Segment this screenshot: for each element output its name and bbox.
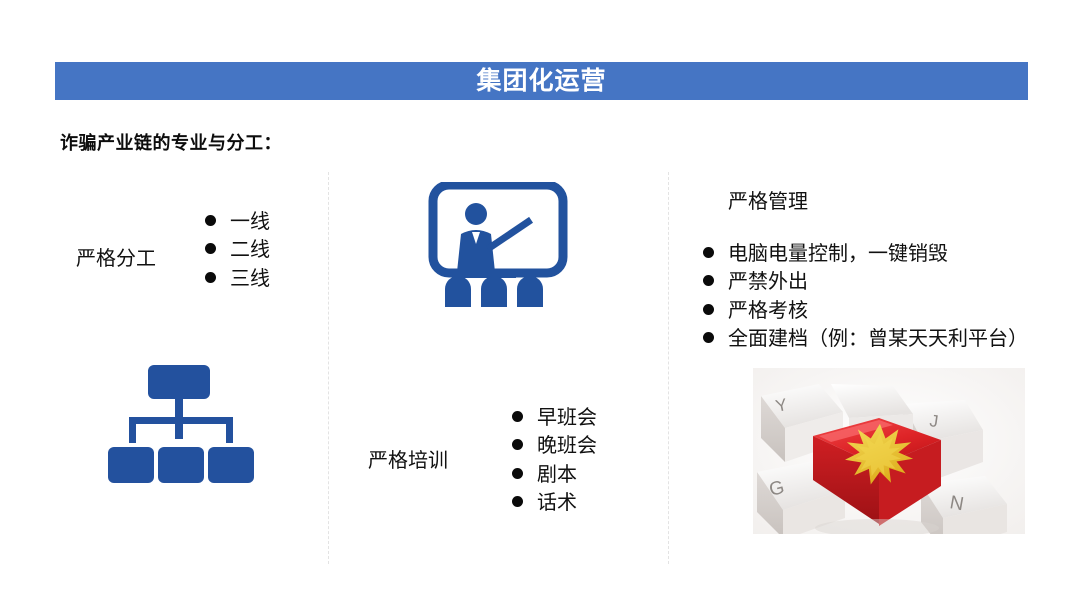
bullet-icon [205,215,216,226]
list-item-label: 二线 [230,236,270,264]
middle-column-list: 早班会 晚班会 剧本 话术 [512,404,597,518]
list-item: 严禁外出 [703,268,1028,296]
right-column-label: 严格管理 [728,185,808,214]
list-item: 早班会 [512,404,597,432]
list-item-label: 一线 [230,208,270,236]
bullet-icon [512,496,523,507]
bullet-icon [205,272,216,283]
list-item-label: 话术 [537,489,577,517]
org-chart-crossbar [129,417,233,424]
list-item-label: 电脑电量控制，一键销毁 [728,240,948,268]
list-item-label: 全面建档（例：曾某天天利平台） [728,325,1028,353]
left-column-label: 严格分工 [76,242,156,271]
column-divider-right [668,172,669,564]
org-chart-root-node [148,365,210,399]
list-item: 二线 [205,236,270,264]
right-column-list: 电脑电量控制，一键销毁 严禁外出 严格考核 全面建档（例：曾某天天利平台） [703,240,1028,354]
slide-subtitle: 诈骗产业链的专业与分工： [60,129,282,155]
list-item-label: 早班会 [537,404,597,432]
list-item: 话术 [512,489,597,517]
list-item: 剧本 [512,461,597,489]
bullet-icon [703,304,714,315]
list-item: 一线 [205,208,270,236]
list-item-label: 三线 [230,265,270,293]
list-item: 三线 [205,265,270,293]
org-chart-child-node [108,447,154,483]
org-chart-branch-left [129,417,136,443]
list-item: 晚班会 [512,432,597,460]
org-chart-child-node [208,447,254,483]
left-column-list: 一线 二线 三线 [205,208,270,293]
org-chart-child-node [158,447,204,483]
list-item-label: 严禁外出 [728,268,808,296]
list-item: 全面建档（例：曾某天天利平台） [703,325,1028,353]
list-item-label: 剧本 [537,461,577,489]
training-classroom-icon [428,182,568,310]
list-item-label: 晚班会 [537,432,597,460]
bullet-icon [703,247,714,258]
keyboard-explosion-key-photo: Y J G N [753,368,1025,534]
page-title: 集团化运营 [476,69,606,94]
bullet-icon [512,411,523,422]
list-item: 严格考核 [703,297,1028,325]
bullet-icon [703,275,714,286]
bullet-icon [205,243,216,254]
bullet-icon [512,468,523,479]
column-divider-left [328,172,329,564]
bullet-icon [703,332,714,343]
slide-title-banner: 集团化运营 [55,62,1028,100]
middle-column-label: 严格培训 [368,444,448,473]
org-chart-branch-right [226,417,233,443]
org-chart-icon [100,365,260,483]
list-item-label: 严格考核 [728,297,808,325]
list-item: 电脑电量控制，一键销毁 [703,240,1028,268]
bullet-icon [512,439,523,450]
